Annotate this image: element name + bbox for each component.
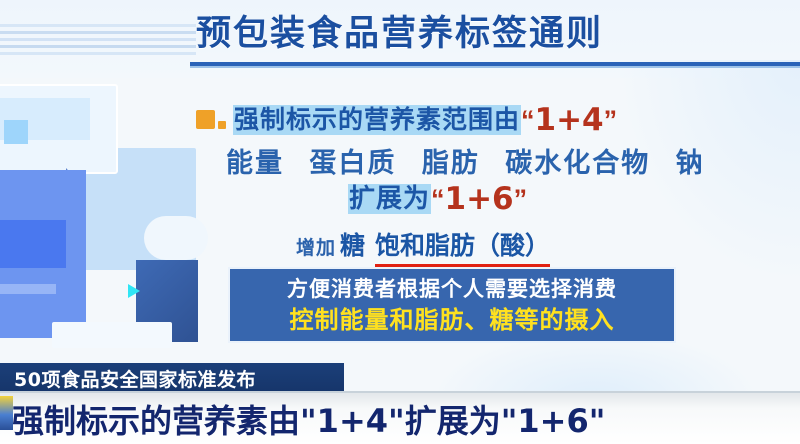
callout-box: 方便消费者根据个人需要选择消费 控制能量和脂肪、糖等的摄入 <box>228 267 676 343</box>
footer-kicker-text: 50项食品安全国家标准发布 <box>14 365 256 392</box>
added-item-sugar: 糖 <box>340 226 366 262</box>
illustration-folder-band <box>0 220 66 268</box>
value-1-plus-4: 1+4 <box>535 102 604 138</box>
main-line-4: 增加 糖 饱和脂肪（酸） <box>296 226 550 268</box>
illustration-blob-shape <box>144 216 208 260</box>
callout-line-2: 控制能量和脂肪、糖等的摄入 <box>290 304 615 336</box>
illustration-square-3 <box>4 120 28 144</box>
illustration-sheet-band <box>0 98 90 140</box>
illustration-bottom-sheet <box>52 322 172 348</box>
decorative-stripes <box>0 24 196 60</box>
callout-line-1: 方便消费者根据个人需要选择消费 <box>287 274 617 304</box>
nutrient-item: 蛋白质 <box>309 148 396 179</box>
quote-open-1: “ <box>521 105 535 136</box>
orange-square-bullet-icon <box>196 110 226 129</box>
main-line-1-text: 强制标示的营养素范围由 <box>233 105 521 135</box>
footer-headline-text: 强制标示的营养素由"1+4"扩展为"1+6" <box>12 396 605 442</box>
illustration-paper-sheet <box>0 84 118 174</box>
quote-close-1: ” <box>604 105 618 136</box>
quote-open-2: “ <box>431 184 445 215</box>
illustration-folder-line <box>0 284 56 294</box>
value-1-plus-6: 1+6 <box>445 181 514 217</box>
add-prefix-label: 增加 <box>296 233 336 260</box>
footer-headline-bar: 强制标示的营养素由"1+4"扩展为"1+6" <box>0 393 800 444</box>
main-line-3: 扩展为 “ 1+6 ” <box>348 181 527 217</box>
slide-canvas: 预包装食品营养标签通则 强制标示的营养素范围由 “ 1+4 ” <box>0 0 800 444</box>
nutrient-item: 脂肪 <box>422 148 480 179</box>
nutrient-item: 能量 <box>226 148 284 179</box>
nutrient-list: 能量 蛋白质 脂肪 碳水化合物 钠 <box>226 141 686 180</box>
main-line-3-text: 扩展为 <box>348 184 431 214</box>
nutrient-item: 钠 <box>676 148 705 179</box>
footer-kicker-bar: 50项食品安全国家标准发布 <box>0 363 344 393</box>
nutrient-item: 碳水化合物 <box>505 148 650 179</box>
quote-close-2: ” <box>514 184 528 215</box>
page-title: 预包装食品营养标签通则 <box>196 8 603 60</box>
title-underline-secondary <box>190 66 800 68</box>
added-item-saturated-fat: 饱和脂肪（酸） <box>375 226 550 268</box>
document-folder-illustration <box>0 84 198 360</box>
footer-corner-chip <box>0 396 13 430</box>
main-line-1: 强制标示的营养素范围由 “ 1+4 ” <box>196 100 617 140</box>
